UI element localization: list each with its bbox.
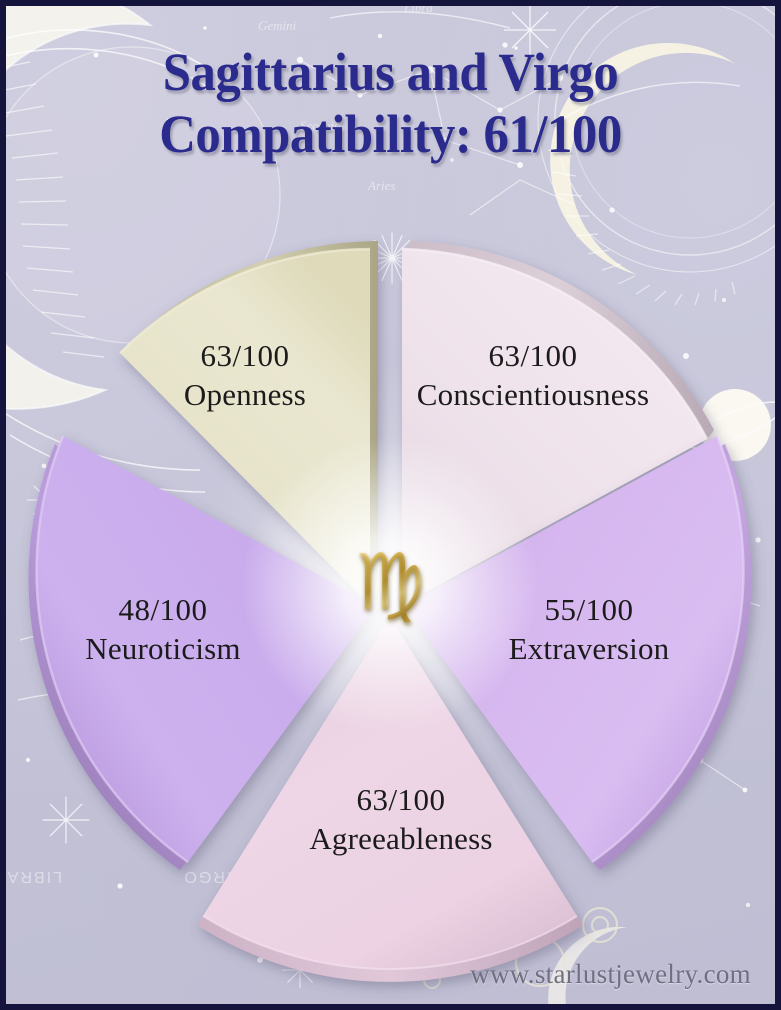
website-url[interactable]: www.starlustjewelry.com	[470, 959, 751, 990]
compatibility-infographic: Gemini Aries Libra Scorpio LIBRA VIRGO S…	[0, 0, 781, 1010]
page-title: Sagittarius and Virgo Compatibility: 61/…	[0, 42, 781, 165]
zodiac-glyph-character: ♍	[355, 544, 425, 622]
title-line-2: Compatibility: 61/100	[23, 104, 757, 166]
title-line-1: Sagittarius and Virgo	[23, 42, 757, 104]
virgo-zodiac-glyph-icon: ♍	[330, 523, 450, 643]
